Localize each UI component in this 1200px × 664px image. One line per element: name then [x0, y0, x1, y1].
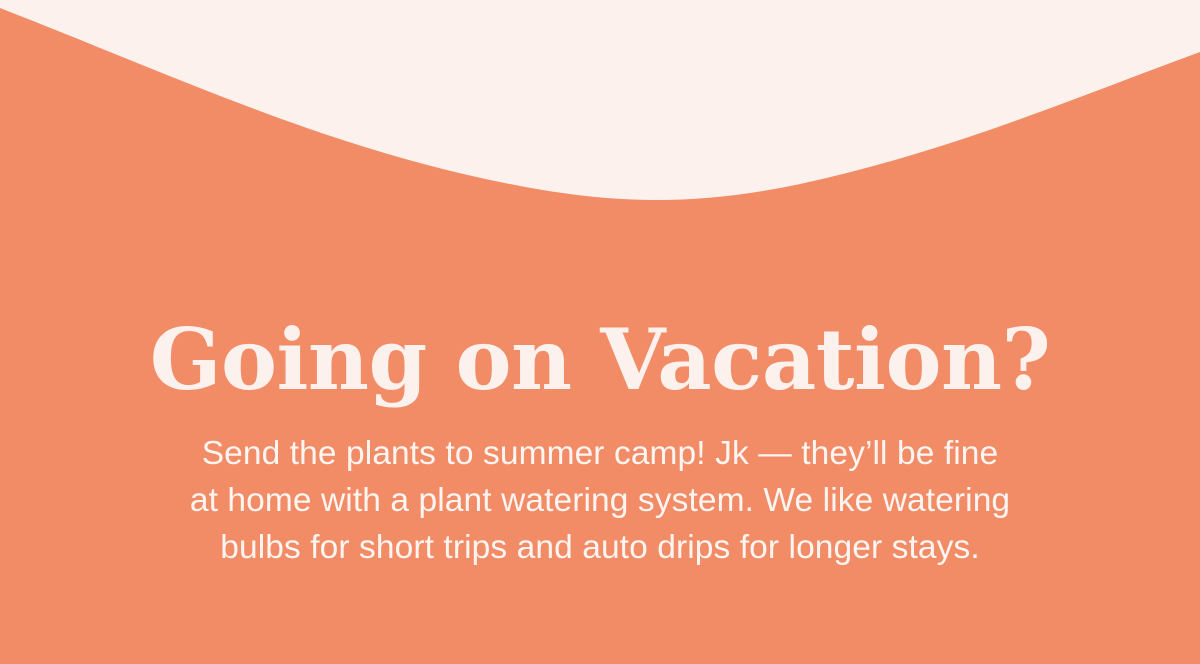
banner-description-line: bulbs for short trips and auto drips for…: [135, 524, 1065, 571]
page-title: Going on Vacation?: [150, 318, 1051, 402]
vacation-plant-care-banner: Going on Vacation? Send the plants to su…: [0, 0, 1200, 664]
banner-content: Going on Vacation? Send the plants to su…: [0, 0, 1200, 664]
banner-description-line: at home with a plant watering system. We…: [135, 477, 1065, 524]
banner-description: Send the plants to summer camp! Jk — the…: [135, 402, 1065, 571]
banner-description-line: Send the plants to summer camp! Jk — the…: [135, 430, 1065, 477]
